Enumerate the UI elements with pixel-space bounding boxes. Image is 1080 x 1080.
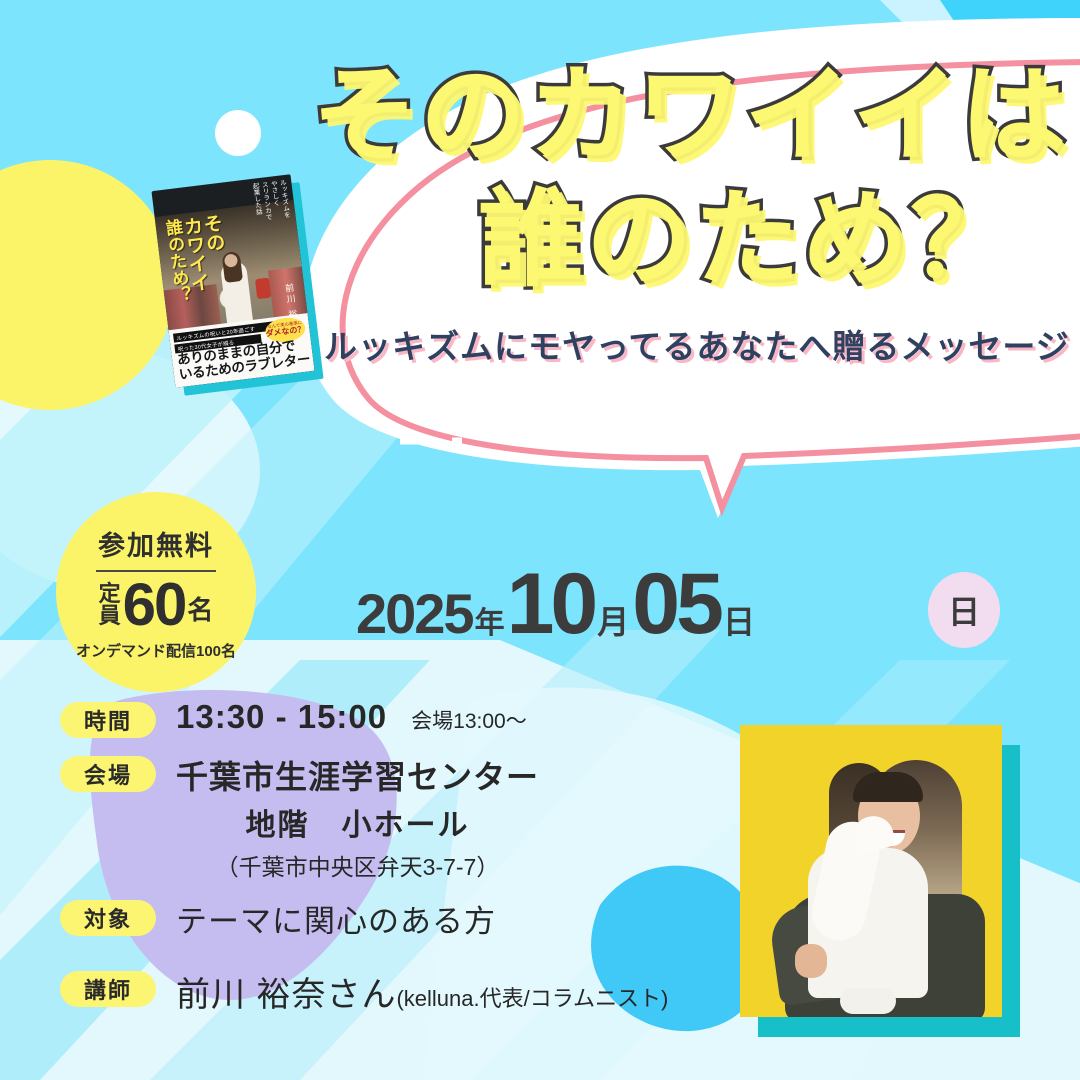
capacity-label-char-1: 定 — [99, 583, 121, 604]
capacity-number: 60 — [123, 578, 186, 632]
speaker-hand-lower — [795, 944, 827, 978]
info-row-lecturer: 講師 前川 裕奈さん (kelluna.代表/コラムニスト) — [60, 967, 760, 1016]
date-year-kanji: 年 — [475, 598, 505, 642]
subtitle: ルッキズムにモヤってるあなたへ贈るメッセージ — [324, 320, 1060, 368]
date-year: 2025 — [356, 581, 473, 646]
date-month-kanji: 月 — [597, 597, 629, 643]
title-block: そのカワイイは 誰のため？ ルッキズムにモヤってるあなたへ贈るメッセージ — [300, 62, 1060, 368]
label-pill-venue: 会場 — [60, 756, 156, 792]
info-row-lecturer-text: 前川 裕奈さん (kelluna.代表/コラムニスト) — [176, 967, 668, 1016]
venue-address: （千葉市中央区弁天3-7-7） — [176, 848, 539, 882]
date-weekday-badge: 日 — [928, 572, 1000, 648]
book-photo-tuktuk — [255, 278, 271, 300]
lecturer-name: 前川 裕奈さん — [176, 967, 396, 1016]
book-top-copy: ルッキズムを やさしく スリランカで 起業した話 — [251, 179, 290, 222]
decor-dot-white — [215, 110, 261, 156]
label-pill-lecturer: 講師 — [60, 971, 156, 1007]
event-poster: そのカワイイは 誰のため？ ルッキズムにモヤってるあなたへ贈るメッセージ ルッキ… — [0, 0, 1080, 1080]
time-value: 13:30 - 15:00 — [176, 698, 387, 736]
capacity-label-char-2: 員 — [99, 605, 121, 626]
title-line-2: 誰のため？ — [478, 186, 1060, 294]
book-cover-image: ルッキズムを やさしく スリランカで 起業した話 その カワイイ 誰のため？ 前… — [151, 174, 314, 388]
free-admission-label: 参加無料 — [98, 524, 214, 563]
lecturer-value-wrap: 前川 裕奈さん (kelluna.代表/コラムニスト) — [176, 967, 668, 1016]
title-line-1: そのカワイイは — [312, 62, 1060, 170]
capacity-unit: 名 — [187, 590, 213, 627]
capacity-badge: 参加無料 定 員 60 名 オンデマンド配信100名 — [56, 492, 256, 692]
lecturer-title: (kelluna.代表/コラムニスト) — [396, 981, 668, 1013]
venue-name: 千葉市生涯学習センター — [176, 752, 539, 798]
info-row-venue: 会場 千葉市生涯学習センター 地階 小ホール （千葉市中央区弁天3-7-7） — [60, 752, 760, 882]
book-cover-body: ルッキズムを やさしく スリランカで 起業した話 その カワイイ 誰のため？ 前… — [151, 174, 314, 388]
date-day: 05 — [632, 566, 720, 643]
ondemand-note: オンデマンド配信100名 — [76, 640, 236, 661]
info-row-time-text: 13:30 - 15:00 会場13:00〜 — [176, 698, 527, 736]
date-month: 10 — [507, 566, 595, 643]
info-row-target-text: テーマに関心のある方 — [176, 896, 496, 941]
venue-room: 地階 小ホール — [176, 800, 539, 844]
target-value: テーマに関心のある方 — [176, 896, 496, 941]
info-row-venue-text: 千葉市生涯学習センター 地階 小ホール （千葉市中央区弁天3-7-7） — [176, 752, 539, 882]
capacity-count-row: 定 員 60 名 — [99, 578, 214, 632]
speaker-photo — [740, 725, 1002, 1017]
time-doors-note: 会場13:00〜 — [411, 705, 527, 735]
time-value-wrap: 13:30 - 15:00 会場13:00〜 — [176, 698, 527, 736]
book-vertical-title: その カワイイ 誰のため？ — [163, 213, 230, 304]
date-day-kanji: 日 — [723, 597, 755, 643]
info-row-time: 時間 13:30 - 15:00 会場13:00〜 — [60, 698, 760, 738]
label-pill-target: 対象 — [60, 900, 156, 936]
speaker-bangs — [853, 772, 923, 802]
label-pill-time: 時間 — [60, 702, 156, 738]
speaker-shoe — [840, 988, 896, 1014]
event-date: 2025 年 10 月 05 日 — [356, 566, 758, 646]
capacity-label: 定 員 — [99, 583, 121, 625]
info-list: 時間 13:30 - 15:00 会場13:00〜 会場 千葉市生涯学習センター… — [60, 698, 760, 1030]
info-row-target: 対象 テーマに関心のある方 — [60, 896, 760, 941]
